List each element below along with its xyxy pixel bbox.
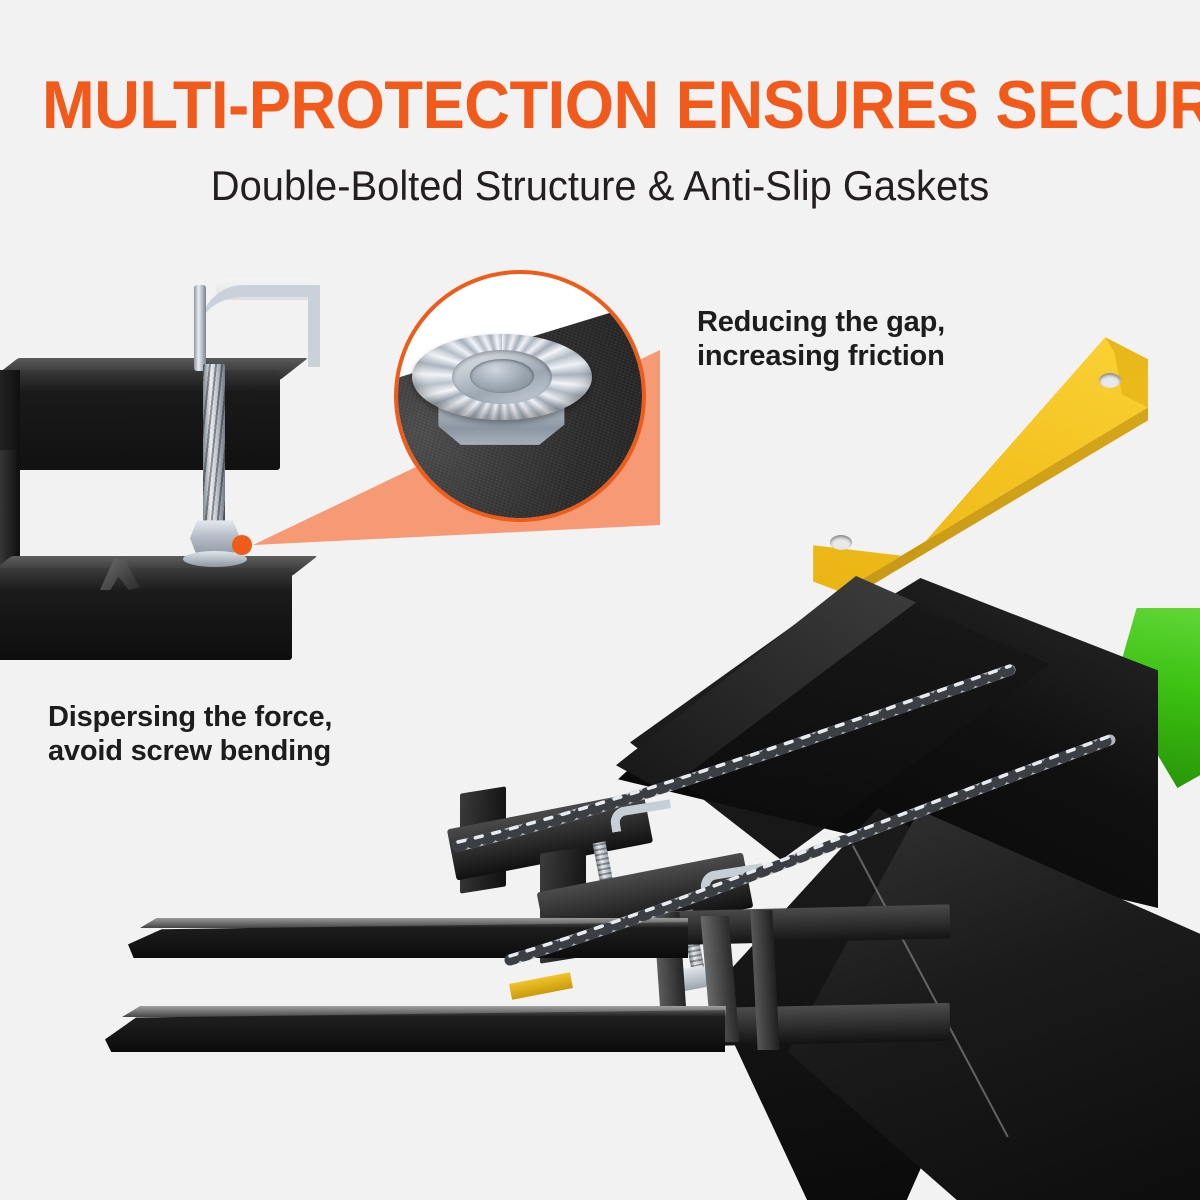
- gasket-hole-bottom: [830, 535, 852, 550]
- page-subheadline: Double-Bolted Structure & Anti-Slip Gask…: [30, 160, 1170, 212]
- gasket-hole-top: [1099, 373, 1121, 388]
- lock-nut-core: [470, 359, 534, 393]
- bracket-top-arm: [0, 370, 280, 470]
- magnifier-anchor-dot: [232, 535, 252, 555]
- anti-slip-gasket-plate: [776, 332, 1148, 592]
- serrated-flange-lock-nut: [412, 314, 592, 464]
- magnified-lock-nut-circle: [394, 270, 646, 522]
- product-assembly-photo: [110, 560, 1200, 1200]
- threaded-screw-icon: [203, 364, 225, 544]
- magnifier-content: [398, 274, 642, 518]
- product-feature-graphic: MULTI-PROTECTION ENSURES SECURITY Double…: [0, 0, 1200, 1200]
- gasket-face: [776, 332, 1148, 592]
- safety-chains: [110, 560, 1200, 1200]
- page-headline: MULTI-PROTECTION ENSURES SECURITY: [42, 68, 1158, 142]
